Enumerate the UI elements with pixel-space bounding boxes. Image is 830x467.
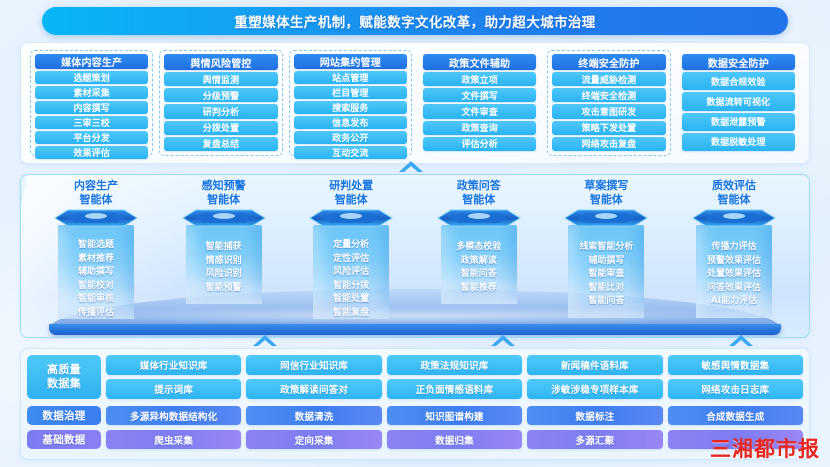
agent-title-line2: 智能体 [712, 193, 756, 207]
business-card-item[interactable]: 分拨处置 [164, 121, 277, 135]
business-card-item[interactable]: 信息发布 [294, 116, 407, 129]
agent-function: 辅助撰写 [588, 255, 624, 268]
agent-title-line1: 草案撰写 [584, 179, 628, 192]
agent-function: 智能校对 [78, 280, 114, 293]
business-card-item[interactable]: 互动交流 [294, 146, 407, 159]
agent-function: 智能预警 [206, 282, 242, 295]
agent-title-line1: 内容生产 [74, 179, 118, 192]
business-card-item[interactable]: 评估分析 [423, 137, 536, 151]
agent-pillar-content-production[interactable]: 内容生产 智能体 智能选题 素材推荐 辅助撰写 智能校对 智能审核 [37, 179, 155, 319]
agent-function: 预警效果评估 [707, 255, 761, 268]
agent-function: 线索智能分析 [579, 241, 633, 254]
agent-function: 处置效果评估 [707, 268, 761, 281]
agent-function: 智能捕获 [206, 241, 242, 254]
business-card-item[interactable]: 数据流转可视化 [682, 92, 795, 110]
dataset-chip[interactable]: 提示词库 [106, 379, 241, 399]
dataset-chip[interactable]: 媒体行业知识库 [106, 355, 241, 375]
agent-function: 情感识别 [206, 255, 242, 268]
business-card-title: 媒体内容生产 [35, 54, 148, 69]
data-row-label-base: 基础数据 [27, 430, 101, 449]
dataset-column: 新闻稿件语料库 涉敏涉稳专项样本库 [527, 355, 662, 399]
agent-pillar-draft-writing[interactable]: 草案撰写 智能体 线索智能分析 辅助撰写 智能审查 智能比对 智能问答 [547, 179, 665, 318]
agent-pillar-perception-warning[interactable]: 感知预警 智能体 智能捕获 情感识别 风险识别 智能预警 [165, 179, 283, 304]
agent-function: 辅助撰写 [78, 266, 114, 279]
base-data-chip[interactable]: 数据归集 [387, 430, 522, 449]
agent-function: 智能审核 [78, 293, 114, 306]
agent-title-line2: 智能体 [457, 193, 501, 207]
dataset-chip[interactable]: 新闻稿件语料库 [527, 355, 662, 375]
data-row-label-governance: 数据治理 [27, 406, 101, 425]
business-card-title: 网站集约管理 [294, 54, 407, 69]
agent-title-line1: 政策问答 [457, 179, 501, 192]
base-data-chip[interactable]: 定向采集 [246, 430, 381, 449]
data-foundation-panel: 高质量 数据集 媒体行业知识库 提示词库 网信行业知识库 政策解读问答对 政策法… [20, 348, 810, 460]
agent-function: 智能审查 [588, 268, 624, 281]
dataset-columns: 媒体行业知识库 提示词库 网信行业知识库 政策解读问答对 政策法规知识库 正负面… [106, 355, 803, 399]
data-row-high-quality-dataset: 高质量 数据集 媒体行业知识库 提示词库 网信行业知识库 政策解读问答对 政策法… [27, 355, 803, 399]
business-card-terminal-security-protection[interactable]: 终端安全防护 流量威胁检测 终端安全检测 攻击意图研发 策略下发处置 网络攻击复… [547, 50, 670, 156]
business-card-item[interactable]: 舆情监测 [164, 72, 277, 86]
business-card-item[interactable]: 复盘总结 [164, 137, 277, 151]
business-card-item[interactable]: 攻击意图研发 [552, 104, 665, 118]
agent-function: 定性评估 [333, 253, 369, 266]
dataset-column: 敏感舆情数据集 网络攻击日志库 [668, 355, 803, 399]
stage-platform-rim [49, 324, 781, 335]
agent-function: 智能比对 [588, 282, 624, 295]
page-title: 重塑媒体生产机制，赋能数字文化改革，助力超大城市治理 [234, 11, 595, 31]
business-card-item[interactable]: 数据泄露预警 [682, 113, 795, 131]
governance-chip[interactable]: 数据标注 [527, 406, 662, 425]
business-card-item[interactable]: 效果评估 [35, 146, 148, 159]
agent-function: 智能选题 [78, 239, 114, 252]
hexagon-cap-icon [692, 208, 776, 228]
business-card-item[interactable]: 分级预警 [164, 88, 277, 102]
agent-pillar-row: 内容生产 智能体 智能选题 素材推荐 辅助撰写 智能校对 智能审核 [37, 179, 793, 315]
agent-function-list: 智能选题 素材推荐 辅助撰写 智能校对 智能审核 传播评估 [58, 225, 134, 319]
intelligent-agent-stage-panel: 内容生产 智能体 智能选题 素材推荐 辅助撰写 智能校对 智能审核 [20, 174, 810, 338]
business-card-public-opinion-risk-control[interactable]: 舆情风险管控 舆情监测 分级预警 研判分析 分拨处置 复盘总结 [159, 50, 282, 156]
agent-title-line1: 质效评估 [712, 179, 756, 192]
hexagon-cap-icon [182, 208, 266, 228]
business-capability-panel: 媒体内容生产 选题策划 素材采集 内容撰写 三审三校 平台分发 效果评估 舆情风… [20, 42, 810, 164]
business-card-item[interactable]: 平台分发 [35, 131, 148, 144]
dataset-label-line1: 高质量 [47, 363, 81, 377]
business-card-item[interactable]: 三审三校 [35, 116, 148, 129]
dataset-chip[interactable]: 政策法规知识库 [387, 355, 522, 375]
business-card-title: 数据安全防护 [682, 54, 795, 70]
business-card-item[interactable]: 政务公开 [294, 131, 407, 144]
business-card-item[interactable]: 文件审查 [423, 104, 536, 118]
agent-title: 研判处置 智能体 [329, 179, 373, 207]
business-card-item[interactable]: 政策立项 [423, 72, 536, 86]
agent-title-line2: 智能体 [329, 193, 373, 207]
governance-chip[interactable]: 合成数据生成 [668, 406, 803, 425]
business-card-title: 终端安全防护 [552, 54, 665, 70]
business-card-title: 政策文件辅助 [423, 54, 536, 70]
agent-function: 素材推荐 [78, 253, 114, 266]
governance-chip[interactable]: 数据清洗 [246, 406, 381, 425]
agent-function: 风险识别 [206, 268, 242, 281]
business-card-policy-document-assistance[interactable]: 政策文件辅助 政策立项 文件撰写 文件审查 政策查询 评估分析 [418, 50, 541, 156]
agent-function: 智能问答 [461, 268, 497, 281]
dataset-label-line2: 数据集 [47, 377, 81, 391]
business-card-item[interactable]: 站点管理 [294, 71, 407, 84]
agent-title: 草案撰写 智能体 [584, 179, 628, 207]
agent-title-line2: 智能体 [74, 193, 118, 207]
agent-function: 问答效果评估 [707, 282, 761, 295]
governance-cells: 多源异构数据结构化 数据清洗 知识图谱构建 数据标注 合成数据生成 [106, 406, 803, 425]
dataset-chip[interactable]: 正负面情感语料库 [387, 379, 522, 399]
agent-title: 内容生产 智能体 [74, 179, 118, 207]
agent-pillar-quality-effect-evaluation[interactable]: 质效评估 智能体 传播力评估 预警效果评估 处置效果评估 问答效果评估 AI [675, 179, 793, 318]
agent-function: 传播力评估 [711, 241, 756, 254]
dataset-column: 政策法规知识库 正负面情感语料库 [387, 355, 522, 399]
agent-function: 政策解读 [461, 255, 497, 268]
business-card-item[interactable]: 策略下发处置 [552, 121, 665, 135]
agent-function: 智能分拨 [333, 280, 369, 293]
business-card-data-security-protection[interactable]: 数据安全防护 数据合规效验 数据流转可视化 数据泄露预警 数据脱敏处理 [677, 50, 800, 156]
business-card-item[interactable]: 搜索服务 [294, 101, 407, 114]
agent-title-line2: 智能体 [584, 193, 628, 207]
business-card-item[interactable]: 素材采集 [35, 86, 148, 99]
data-row-governance: 数据治理 多源异构数据结构化 数据清洗 知识图谱构建 数据标注 合成数据生成 [27, 406, 803, 425]
agent-function-list: 传播力评估 预警效果评估 处置效果评估 问答效果评估 AI能力评估 [696, 225, 772, 318]
business-card-item[interactable]: 流量威胁检测 [552, 72, 665, 86]
hexagon-cap-icon [54, 208, 138, 228]
business-card-item[interactable]: 文件撰写 [423, 88, 536, 102]
base-data-cells: 爬虫采集 定向采集 数据归集 多源汇聚 [106, 430, 803, 449]
business-card-media-content-production[interactable]: 媒体内容生产 选题策划 素材采集 内容撰写 三审三校 平台分发 效果评估 [30, 50, 153, 156]
agent-function: AI能力评估 [711, 295, 757, 308]
dataset-chip[interactable]: 网信行业知识库 [246, 355, 381, 375]
base-data-chip[interactable]: 多源汇聚 [527, 430, 662, 449]
agent-function: 智能问答 [588, 295, 624, 308]
business-card-title: 舆情风险管控 [164, 54, 277, 70]
business-card-item[interactable]: 内容撰写 [35, 101, 148, 114]
agent-title-line2: 智能体 [202, 193, 246, 207]
agent-title: 感知预警 智能体 [202, 179, 246, 207]
agent-function-list: 多模态校验 政策解读 智能问答 智能推荐 [441, 225, 517, 304]
hexagon-cap-icon [309, 208, 393, 228]
agent-title: 质效评估 智能体 [712, 179, 756, 207]
agent-function: 智能处置 [333, 293, 369, 306]
agent-function: 风险评估 [333, 266, 369, 279]
business-card-row: 媒体内容生产 选题策划 素材采集 内容撰写 三审三校 平台分发 效果评估 舆情风… [30, 50, 800, 156]
dataset-chip[interactable]: 网络攻击日志库 [668, 379, 803, 399]
agent-function-list: 智能捕获 情感识别 风险识别 智能预警 [186, 225, 262, 304]
hexagon-cap-icon [437, 208, 521, 228]
agent-title-line1: 感知预警 [202, 179, 246, 192]
dataset-column: 网信行业知识库 政策解读问答对 [246, 355, 381, 399]
business-card-item[interactable]: 数据合规效验 [682, 72, 795, 90]
agent-pillar-judgment-disposal[interactable]: 研判处置 智能体 定量分析 定性评估 风险评估 智能分拨 智能处置 [292, 179, 410, 319]
agent-function: 多模态校验 [456, 241, 501, 254]
agent-function-list: 线索智能分析 辅助撰写 智能审查 智能比对 智能问答 [568, 225, 644, 318]
agent-function: 智能推荐 [461, 282, 497, 295]
business-card-item[interactable]: 栏目管理 [294, 86, 407, 99]
hexagon-cap-icon [564, 208, 648, 228]
business-card-item[interactable]: 政策查询 [423, 121, 536, 135]
dataset-column: 媒体行业知识库 提示词库 [106, 355, 241, 399]
agent-title: 政策问答 智能体 [457, 179, 501, 207]
dataset-chip[interactable]: 涉敏涉稳专项样本库 [527, 379, 662, 399]
data-row-label-dataset: 高质量 数据集 [27, 355, 101, 399]
agent-function: 传播评估 [78, 307, 114, 320]
agent-function-list: 定量分析 定性评估 风险评估 智能分拨 智能处置 智能复盘 [313, 225, 389, 319]
agent-pillar-policy-qa[interactable]: 政策问答 智能体 多模态校验 政策解读 智能问答 智能推荐 [420, 179, 538, 304]
base-data-chip[interactable] [668, 430, 803, 449]
dataset-chip[interactable]: 敏感舆情数据集 [668, 355, 803, 375]
business-card-website-intensive-management[interactable]: 网站集约管理 站点管理 栏目管理 搜索服务 信息发布 政务公开 互动交流 [289, 50, 412, 156]
agent-function: 智能复盘 [333, 307, 369, 320]
agent-function: 定量分析 [333, 239, 369, 252]
business-card-item[interactable]: 数据脱敏处理 [682, 133, 795, 151]
business-card-item[interactable]: 终端安全检测 [552, 88, 665, 102]
governance-chip[interactable]: 知识图谱构建 [387, 406, 522, 425]
governance-chip[interactable]: 多源异构数据结构化 [106, 406, 241, 425]
base-data-chip[interactable]: 爬虫采集 [106, 430, 241, 449]
agent-title-line1: 研判处置 [329, 179, 373, 192]
dataset-chip[interactable]: 政策解读问答对 [246, 379, 381, 399]
business-card-item[interactable]: 网络攻击复盘 [552, 137, 665, 151]
business-card-item[interactable]: 研判分析 [164, 104, 277, 118]
data-row-base-data: 基础数据 爬虫采集 定向采集 数据归集 多源汇聚 [27, 430, 803, 449]
business-card-item[interactable]: 选题策划 [35, 71, 148, 84]
data-panel-spacer [27, 399, 803, 406]
page-header-banner: 重塑媒体生产机制，赋能数字文化改革，助力超大城市治理 [42, 7, 788, 35]
